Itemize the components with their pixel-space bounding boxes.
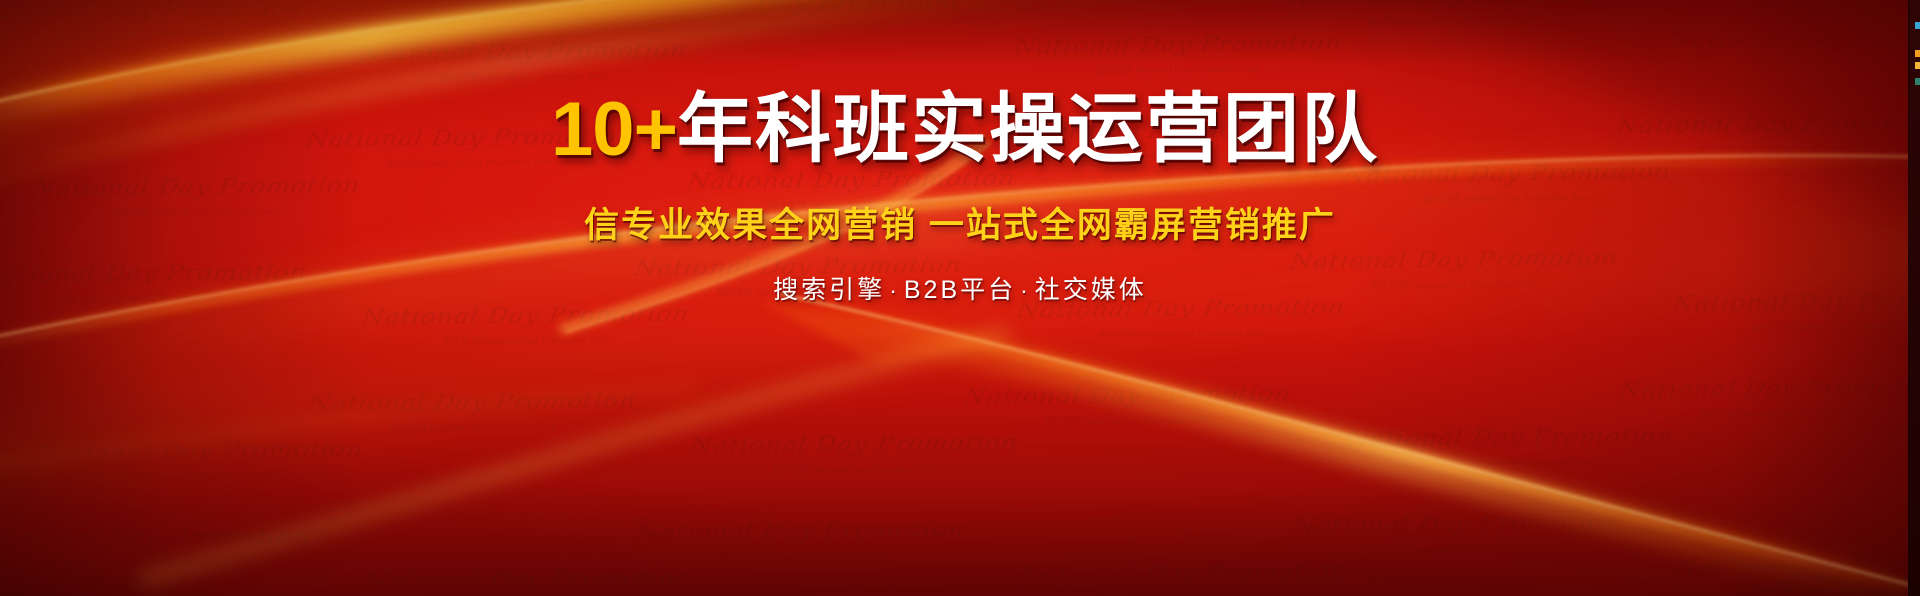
promotional-banner: National Day Promotion国庆促销 National Day … <box>0 0 1920 596</box>
tagline-item-1: B2B平台 <box>904 276 1016 304</box>
tagline-item-2: 社交媒体 <box>1035 276 1147 304</box>
banner-text-block: 10+年科班实操运营团队 信专业效果全网营销 一站式全网霸屏营销推广 搜索引擎·… <box>0 92 1920 306</box>
edge-pip-teal <box>1915 78 1920 85</box>
subheadline: 信专业效果全网营销 一站式全网霸屏营销推广 <box>0 197 1920 248</box>
edge-pip-blue <box>1915 22 1920 29</box>
tagline-separator-1: · <box>1016 277 1035 303</box>
tagline-separator-0: · <box>885 277 904 303</box>
headline-text: 年科班实操运营团队 <box>677 87 1379 172</box>
tagline: 搜索引擎·B2B平台·社交媒体 <box>0 270 1920 306</box>
edge-pip-gold <box>1915 62 1920 69</box>
headline-number: 10+ <box>551 87 677 172</box>
edge-pip-orange <box>1915 50 1920 57</box>
tagline-item-0: 搜索引擎 <box>773 276 885 304</box>
page-title: 10+年科班实操运营团队 <box>0 92 1920 168</box>
